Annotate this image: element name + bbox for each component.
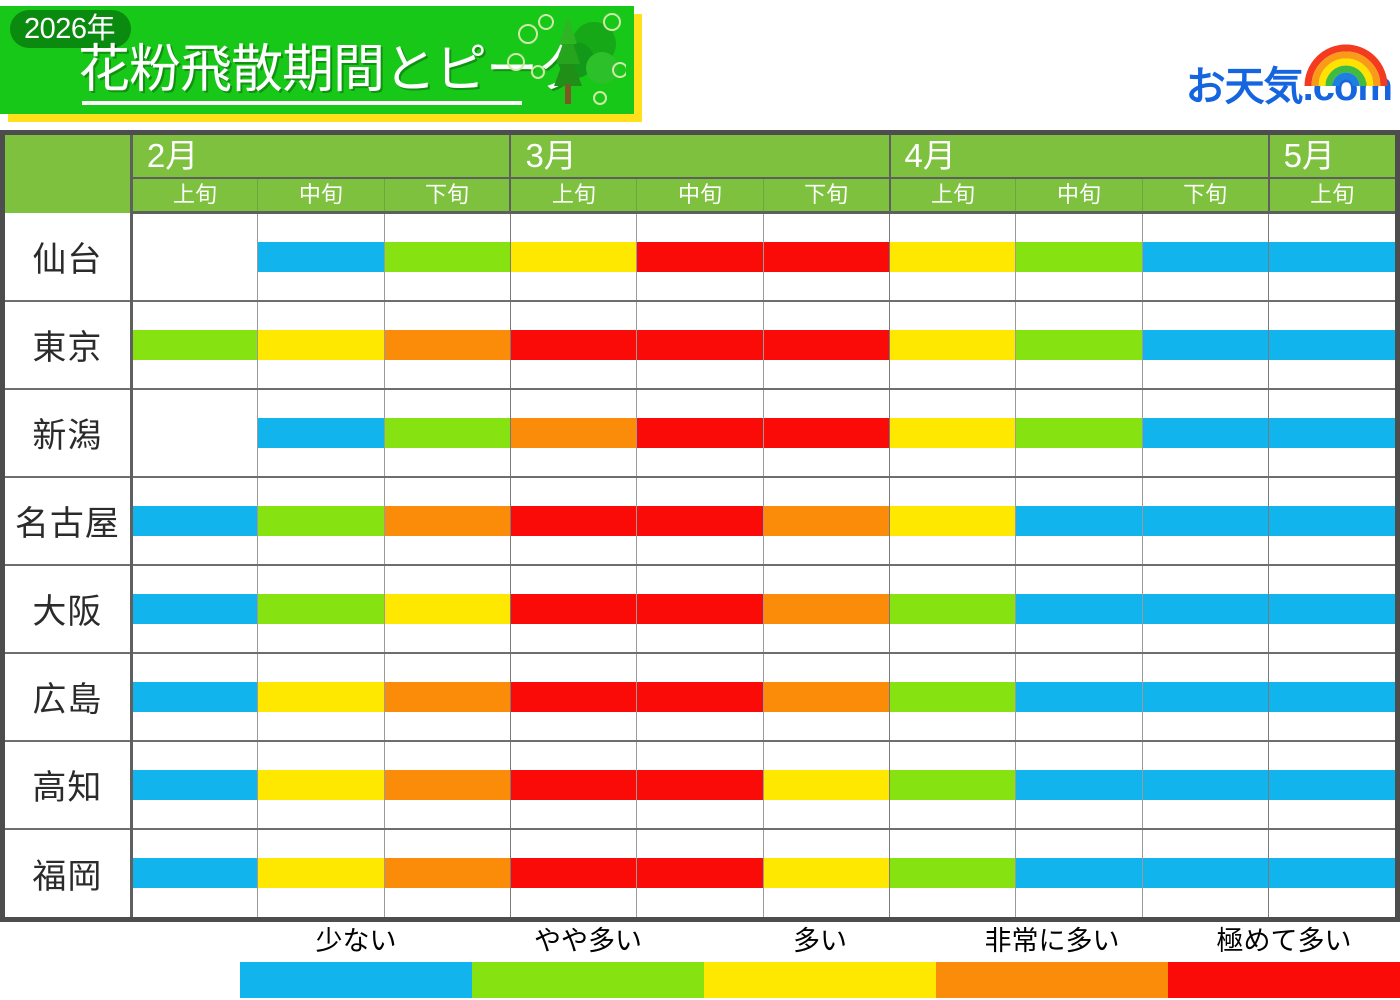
cell-東京-4月上旬 bbox=[890, 301, 1016, 389]
pollen-bar-few bbox=[1269, 506, 1395, 536]
pollen-bar-lots bbox=[385, 506, 510, 536]
month-header-3: 3月 bbox=[510, 135, 889, 178]
rainbow-icon bbox=[1302, 42, 1390, 88]
pollen-bar-lots bbox=[385, 330, 510, 360]
pollen-bar-many bbox=[890, 506, 1015, 536]
table-row: 高知 bbox=[5, 741, 1395, 829]
tenday-header-2-1: 上旬 bbox=[131, 178, 257, 213]
table-body: 仙台東京新潟名古屋大阪広島高知福岡 bbox=[5, 213, 1395, 917]
city-label-東京: 東京 bbox=[5, 301, 131, 389]
pollen-bar-few bbox=[1016, 770, 1141, 800]
cell-高知-3月下旬 bbox=[763, 741, 889, 829]
pollen-bar-few bbox=[133, 858, 257, 888]
cell-高知-4月上旬 bbox=[890, 741, 1016, 829]
tenday-header-4-3: 下旬 bbox=[1142, 178, 1268, 213]
cell-東京-5月上旬 bbox=[1269, 301, 1395, 389]
cell-仙台-2月下旬 bbox=[384, 213, 510, 301]
pollen-bar-many bbox=[890, 242, 1015, 272]
pollen-table: 2月 3月 4月 5月 上旬 中旬 下旬 上旬 中旬 下旬 上旬 中旬 下旬 上… bbox=[5, 135, 1395, 917]
cell-広島-3月下旬 bbox=[763, 653, 889, 741]
pollen-bar-lots bbox=[385, 770, 510, 800]
city-label-新潟: 新潟 bbox=[5, 389, 131, 477]
pollen-bar-few bbox=[133, 682, 257, 712]
pollen-bar-vmany bbox=[764, 418, 889, 448]
table-row: 名古屋 bbox=[5, 477, 1395, 565]
tenday-header-2-2: 中旬 bbox=[258, 178, 384, 213]
cell-新潟-2月下旬 bbox=[384, 389, 510, 477]
pollen-bar-some bbox=[258, 506, 383, 536]
cell-名古屋-4月中旬 bbox=[1016, 477, 1142, 565]
cell-大阪-2月中旬 bbox=[258, 565, 384, 653]
pollen-bar-few bbox=[1143, 682, 1268, 712]
banner-body: 2026年 花粉飛散期間とピーク bbox=[0, 6, 634, 114]
cell-高知-2月中旬 bbox=[258, 741, 384, 829]
pollen-bar-few bbox=[1143, 858, 1268, 888]
cell-名古屋-2月下旬 bbox=[384, 477, 510, 565]
cell-福岡-2月中旬 bbox=[258, 829, 384, 917]
cell-新潟-3月上旬 bbox=[510, 389, 636, 477]
month-header-4: 4月 bbox=[890, 135, 1269, 178]
legend-swatch-some bbox=[472, 962, 704, 998]
cell-東京-3月下旬 bbox=[763, 301, 889, 389]
pollen-bar-vmany bbox=[637, 682, 762, 712]
pollen-table-wrapper: 2月 3月 4月 5月 上旬 中旬 下旬 上旬 中旬 下旬 上旬 中旬 下旬 上… bbox=[0, 130, 1400, 922]
pollen-bar-some bbox=[890, 858, 1015, 888]
city-label-高知: 高知 bbox=[5, 741, 131, 829]
pollen-bar-lots bbox=[511, 418, 636, 448]
cell-高知-4月下旬 bbox=[1142, 741, 1268, 829]
tenday-header-4-2: 中旬 bbox=[1016, 178, 1142, 213]
pollen-bar-few bbox=[1016, 682, 1141, 712]
tenday-header-4-1: 上旬 bbox=[890, 178, 1016, 213]
pollen-bar-vmany bbox=[511, 858, 636, 888]
cell-高知-2月下旬 bbox=[384, 741, 510, 829]
cell-福岡-2月下旬 bbox=[384, 829, 510, 917]
pollen-bar-few bbox=[258, 418, 383, 448]
cell-名古屋-3月下旬 bbox=[763, 477, 889, 565]
pollen-bar-vmany bbox=[764, 242, 889, 272]
cell-高知-2月上旬 bbox=[131, 741, 257, 829]
cell-広島-3月中旬 bbox=[637, 653, 763, 741]
table-row: 福岡 bbox=[5, 829, 1395, 917]
pollen-bar-vmany bbox=[511, 682, 636, 712]
month-header-2: 2月 bbox=[131, 135, 510, 178]
cell-広島-2月下旬 bbox=[384, 653, 510, 741]
city-label-名古屋: 名古屋 bbox=[5, 477, 131, 565]
city-label-福岡: 福岡 bbox=[5, 829, 131, 917]
header-corner bbox=[5, 135, 131, 213]
cell-名古屋-3月中旬 bbox=[637, 477, 763, 565]
cell-仙台-2月中旬 bbox=[258, 213, 384, 301]
pollen-bar-vmany bbox=[511, 506, 636, 536]
pollen-bar-few bbox=[133, 770, 257, 800]
pollen-bar-few bbox=[1143, 770, 1268, 800]
pollen-bar-vmany bbox=[637, 418, 762, 448]
cell-大阪-2月上旬 bbox=[131, 565, 257, 653]
site-logo[interactable]: お天気.com bbox=[1186, 52, 1392, 108]
pollen-bar-vmany bbox=[637, 506, 762, 536]
pollen-bar-few bbox=[258, 242, 383, 272]
tenday-header-5-1: 上旬 bbox=[1269, 178, 1395, 213]
cell-新潟-2月上旬 bbox=[131, 389, 257, 477]
pollen-forecast-page: 2026年 花粉飛散期間とピーク bbox=[0, 0, 1400, 1000]
cell-福岡-3月下旬 bbox=[763, 829, 889, 917]
month-header-5: 5月 bbox=[1269, 135, 1395, 178]
pollen-bar-many bbox=[258, 330, 383, 360]
cell-大阪-3月上旬 bbox=[510, 565, 636, 653]
table-row: 仙台 bbox=[5, 213, 1395, 301]
tenday-header-3-2: 中旬 bbox=[637, 178, 763, 213]
cell-広島-4月中旬 bbox=[1016, 653, 1142, 741]
pollen-bar-some bbox=[890, 594, 1015, 624]
cell-福岡-2月上旬 bbox=[131, 829, 257, 917]
cell-新潟-4月下旬 bbox=[1142, 389, 1268, 477]
pollen-bar-few bbox=[1143, 506, 1268, 536]
cell-大阪-5月上旬 bbox=[1269, 565, 1395, 653]
cell-広島-2月中旬 bbox=[258, 653, 384, 741]
cell-東京-2月中旬 bbox=[258, 301, 384, 389]
pollen-bar-few bbox=[1269, 330, 1395, 360]
cell-大阪-3月下旬 bbox=[763, 565, 889, 653]
table-row: 東京 bbox=[5, 301, 1395, 389]
pollen-bar-vmany bbox=[637, 242, 762, 272]
cell-新潟-3月下旬 bbox=[763, 389, 889, 477]
pollen-bar-none bbox=[133, 418, 257, 448]
cell-福岡-3月上旬 bbox=[510, 829, 636, 917]
city-label-仙台: 仙台 bbox=[5, 213, 131, 301]
pollen-bar-many bbox=[511, 242, 636, 272]
pollen-bar-vmany bbox=[511, 770, 636, 800]
cell-広島-3月上旬 bbox=[510, 653, 636, 741]
pollen-bar-lots bbox=[764, 506, 889, 536]
pollen-bar-few bbox=[1143, 330, 1268, 360]
legend-swatch-few bbox=[240, 962, 472, 998]
cell-仙台-2月上旬 bbox=[131, 213, 257, 301]
pollen-bar-few bbox=[1269, 242, 1395, 272]
cell-仙台-5月上旬 bbox=[1269, 213, 1395, 301]
legend-label-some: やや多い bbox=[472, 920, 704, 962]
pollen-bar-many bbox=[890, 418, 1015, 448]
pollen-bar-few bbox=[1269, 770, 1395, 800]
cell-広島-5月上旬 bbox=[1269, 653, 1395, 741]
pollen-bar-vmany bbox=[637, 594, 762, 624]
legend-swatch-many bbox=[704, 962, 936, 998]
pollen-bar-some bbox=[133, 330, 257, 360]
cell-仙台-3月上旬 bbox=[510, 213, 636, 301]
cell-東京-2月下旬 bbox=[384, 301, 510, 389]
cell-大阪-3月中旬 bbox=[637, 565, 763, 653]
cell-名古屋-2月上旬 bbox=[131, 477, 257, 565]
pollen-bar-few bbox=[133, 506, 257, 536]
month-header-row: 2月 3月 4月 5月 bbox=[5, 135, 1395, 178]
table-row: 新潟 bbox=[5, 389, 1395, 477]
cell-仙台-4月上旬 bbox=[890, 213, 1016, 301]
cell-福岡-4月下旬 bbox=[1142, 829, 1268, 917]
legend: 少ないやや多い多い非常に多い極めて多い bbox=[240, 920, 1400, 1000]
cell-大阪-4月下旬 bbox=[1142, 565, 1268, 653]
cell-高知-3月中旬 bbox=[637, 741, 763, 829]
cell-高知-3月上旬 bbox=[510, 741, 636, 829]
cell-新潟-4月上旬 bbox=[890, 389, 1016, 477]
pollen-bar-few bbox=[1016, 858, 1141, 888]
title-underline bbox=[82, 101, 522, 105]
city-label-広島: 広島 bbox=[5, 653, 131, 741]
pollen-bar-some bbox=[1016, 242, 1141, 272]
pollen-bar-many bbox=[258, 858, 383, 888]
pollen-bar-lots bbox=[385, 682, 510, 712]
legend-labels: 少ないやや多い多い非常に多い極めて多い bbox=[240, 920, 1400, 962]
cell-東京-4月中旬 bbox=[1016, 301, 1142, 389]
city-label-大阪: 大阪 bbox=[5, 565, 131, 653]
pollen-bar-vmany bbox=[764, 330, 889, 360]
legend-label-vmany: 極めて多い bbox=[1168, 920, 1400, 962]
pollen-bar-few bbox=[133, 594, 257, 624]
pollen-bar-some bbox=[1016, 330, 1141, 360]
cell-東京-4月下旬 bbox=[1142, 301, 1268, 389]
pollen-bar-some bbox=[385, 242, 510, 272]
pollen-bar-vmany bbox=[511, 594, 636, 624]
cedar-tree-pollen-illustration bbox=[476, 8, 626, 112]
tenday-header-3-1: 上旬 bbox=[510, 178, 636, 213]
pollen-bar-few bbox=[1143, 594, 1268, 624]
cell-福岡-3月中旬 bbox=[637, 829, 763, 917]
cell-新潟-2月中旬 bbox=[258, 389, 384, 477]
cell-福岡-5月上旬 bbox=[1269, 829, 1395, 917]
pollen-bar-few bbox=[1269, 418, 1395, 448]
tenday-header-2-3: 下旬 bbox=[384, 178, 510, 213]
cell-仙台-4月下旬 bbox=[1142, 213, 1268, 301]
cell-大阪-4月中旬 bbox=[1016, 565, 1142, 653]
legend-swatches bbox=[240, 962, 1400, 998]
pollen-bar-some bbox=[258, 594, 383, 624]
pollen-bar-some bbox=[890, 770, 1015, 800]
pollen-bar-few bbox=[1269, 682, 1395, 712]
pollen-bar-few bbox=[1143, 418, 1268, 448]
cell-名古屋-4月上旬 bbox=[890, 477, 1016, 565]
pollen-bar-many bbox=[764, 858, 889, 888]
pollen-bar-few bbox=[1269, 858, 1395, 888]
cell-新潟-3月中旬 bbox=[637, 389, 763, 477]
pollen-bar-few bbox=[1143, 242, 1268, 272]
cell-名古屋-2月中旬 bbox=[258, 477, 384, 565]
cell-東京-3月中旬 bbox=[637, 301, 763, 389]
cell-新潟-5月上旬 bbox=[1269, 389, 1395, 477]
pollen-bar-some bbox=[385, 418, 510, 448]
pollen-bar-none bbox=[133, 242, 257, 272]
cell-福岡-4月上旬 bbox=[890, 829, 1016, 917]
cell-高知-5月上旬 bbox=[1269, 741, 1395, 829]
legend-label-few: 少ない bbox=[240, 920, 472, 962]
pollen-bar-few bbox=[1016, 506, 1141, 536]
pollen-bar-many bbox=[890, 330, 1015, 360]
pollen-bar-lots bbox=[385, 858, 510, 888]
pollen-bar-vmany bbox=[511, 330, 636, 360]
cell-高知-4月中旬 bbox=[1016, 741, 1142, 829]
table-row: 大阪 bbox=[5, 565, 1395, 653]
tenday-header-row: 上旬 中旬 下旬 上旬 中旬 下旬 上旬 中旬 下旬 上旬 bbox=[5, 178, 1395, 213]
cell-広島-4月下旬 bbox=[1142, 653, 1268, 741]
pollen-bar-few bbox=[1016, 594, 1141, 624]
cell-仙台-3月中旬 bbox=[637, 213, 763, 301]
tenday-header-3-3: 下旬 bbox=[763, 178, 889, 213]
cell-福岡-4月中旬 bbox=[1016, 829, 1142, 917]
cell-東京-3月上旬 bbox=[510, 301, 636, 389]
pollen-bar-lots bbox=[764, 594, 889, 624]
legend-swatch-lots bbox=[936, 962, 1168, 998]
cell-広島-4月上旬 bbox=[890, 653, 1016, 741]
cell-広島-2月上旬 bbox=[131, 653, 257, 741]
cell-名古屋-4月下旬 bbox=[1142, 477, 1268, 565]
cell-大阪-2月下旬 bbox=[384, 565, 510, 653]
cell-名古屋-3月上旬 bbox=[510, 477, 636, 565]
legend-swatch-vmany bbox=[1168, 962, 1400, 998]
pollen-bar-many bbox=[764, 770, 889, 800]
pollen-bar-vmany bbox=[637, 770, 762, 800]
cell-仙台-3月下旬 bbox=[763, 213, 889, 301]
pollen-bar-vmany bbox=[637, 858, 762, 888]
pollen-bar-few bbox=[1269, 594, 1395, 624]
legend-label-many: 多い bbox=[704, 920, 936, 962]
pollen-bar-vmany bbox=[637, 330, 762, 360]
legend-label-lots: 非常に多い bbox=[936, 920, 1168, 962]
cell-仙台-4月中旬 bbox=[1016, 213, 1142, 301]
cell-東京-2月上旬 bbox=[131, 301, 257, 389]
pollen-bar-some bbox=[890, 682, 1015, 712]
cell-名古屋-5月上旬 bbox=[1269, 477, 1395, 565]
table-row: 広島 bbox=[5, 653, 1395, 741]
pollen-bar-some bbox=[1016, 418, 1141, 448]
pollen-bar-many bbox=[258, 770, 383, 800]
title-banner: 2026年 花粉飛散期間とピーク bbox=[0, 6, 642, 122]
table-head: 2月 3月 4月 5月 上旬 中旬 下旬 上旬 中旬 下旬 上旬 中旬 下旬 上… bbox=[5, 135, 1395, 213]
pollen-bar-lots bbox=[764, 682, 889, 712]
pollen-bar-many bbox=[258, 682, 383, 712]
cell-新潟-4月中旬 bbox=[1016, 389, 1142, 477]
cell-大阪-4月上旬 bbox=[890, 565, 1016, 653]
pollen-bar-many bbox=[385, 594, 510, 624]
